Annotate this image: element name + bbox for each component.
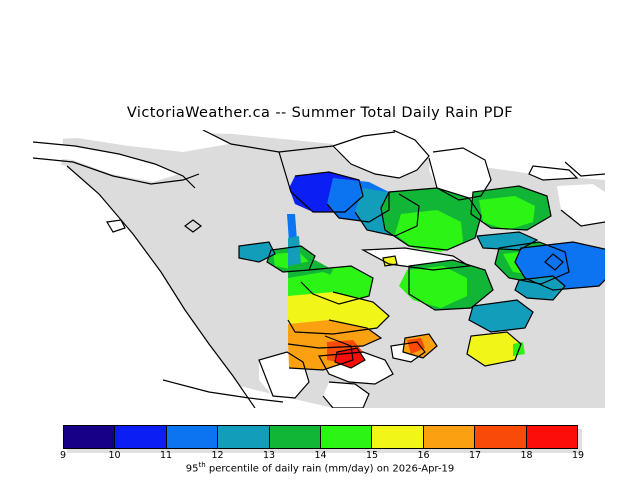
colorbar-tick-12: 12 xyxy=(211,450,223,461)
rainfall-map xyxy=(33,130,605,408)
region-12-13-teal-west-band xyxy=(288,236,301,266)
page-title: VictoriaWeather.ca -- Summer Total Daily… xyxy=(0,105,640,121)
colorbar-band-12-13 xyxy=(218,426,269,448)
colorbar-tick-15: 15 xyxy=(366,450,378,461)
colorbar xyxy=(63,425,578,449)
colorbar-bands xyxy=(63,425,578,449)
caption-rest: percentile of daily rain (mm/day) on 202… xyxy=(206,463,455,474)
colorbar-tick-19: 19 xyxy=(572,450,584,461)
colorbar-band-10-11 xyxy=(115,426,166,448)
colorbar-band-15-16 xyxy=(372,426,423,448)
colorbar-caption: 95th percentile of daily rain (mm/day) o… xyxy=(0,461,640,474)
colorbar-band-16-17 xyxy=(424,426,475,448)
colorbar-tick-13: 13 xyxy=(263,450,275,461)
weather-map-page: VictoriaWeather.ca -- Summer Total Daily… xyxy=(0,0,640,480)
colorbar-tick-14: 14 xyxy=(314,450,326,461)
colorbar-tick-9: 9 xyxy=(60,450,66,461)
caption-superscript: th xyxy=(199,461,206,469)
colorbar-band-14-15 xyxy=(321,426,372,448)
colorbar-tick-17: 17 xyxy=(469,450,481,461)
colorbar-band-17-18 xyxy=(475,426,526,448)
colorbar-band-18-19 xyxy=(527,426,577,448)
colorbar-band-9-10 xyxy=(64,426,115,448)
colorbar-tick-11: 11 xyxy=(160,450,172,461)
caption-prefix: 95 xyxy=(186,463,199,474)
colorbar-band-13-14 xyxy=(270,426,321,448)
colorbar-tick-18: 18 xyxy=(520,450,532,461)
colorbar-tick-10: 10 xyxy=(108,450,120,461)
bay-far-northeast xyxy=(565,140,605,176)
colorbar-band-11-12 xyxy=(167,426,218,448)
map-panel xyxy=(33,130,605,408)
colorbar-tick-16: 16 xyxy=(417,450,429,461)
